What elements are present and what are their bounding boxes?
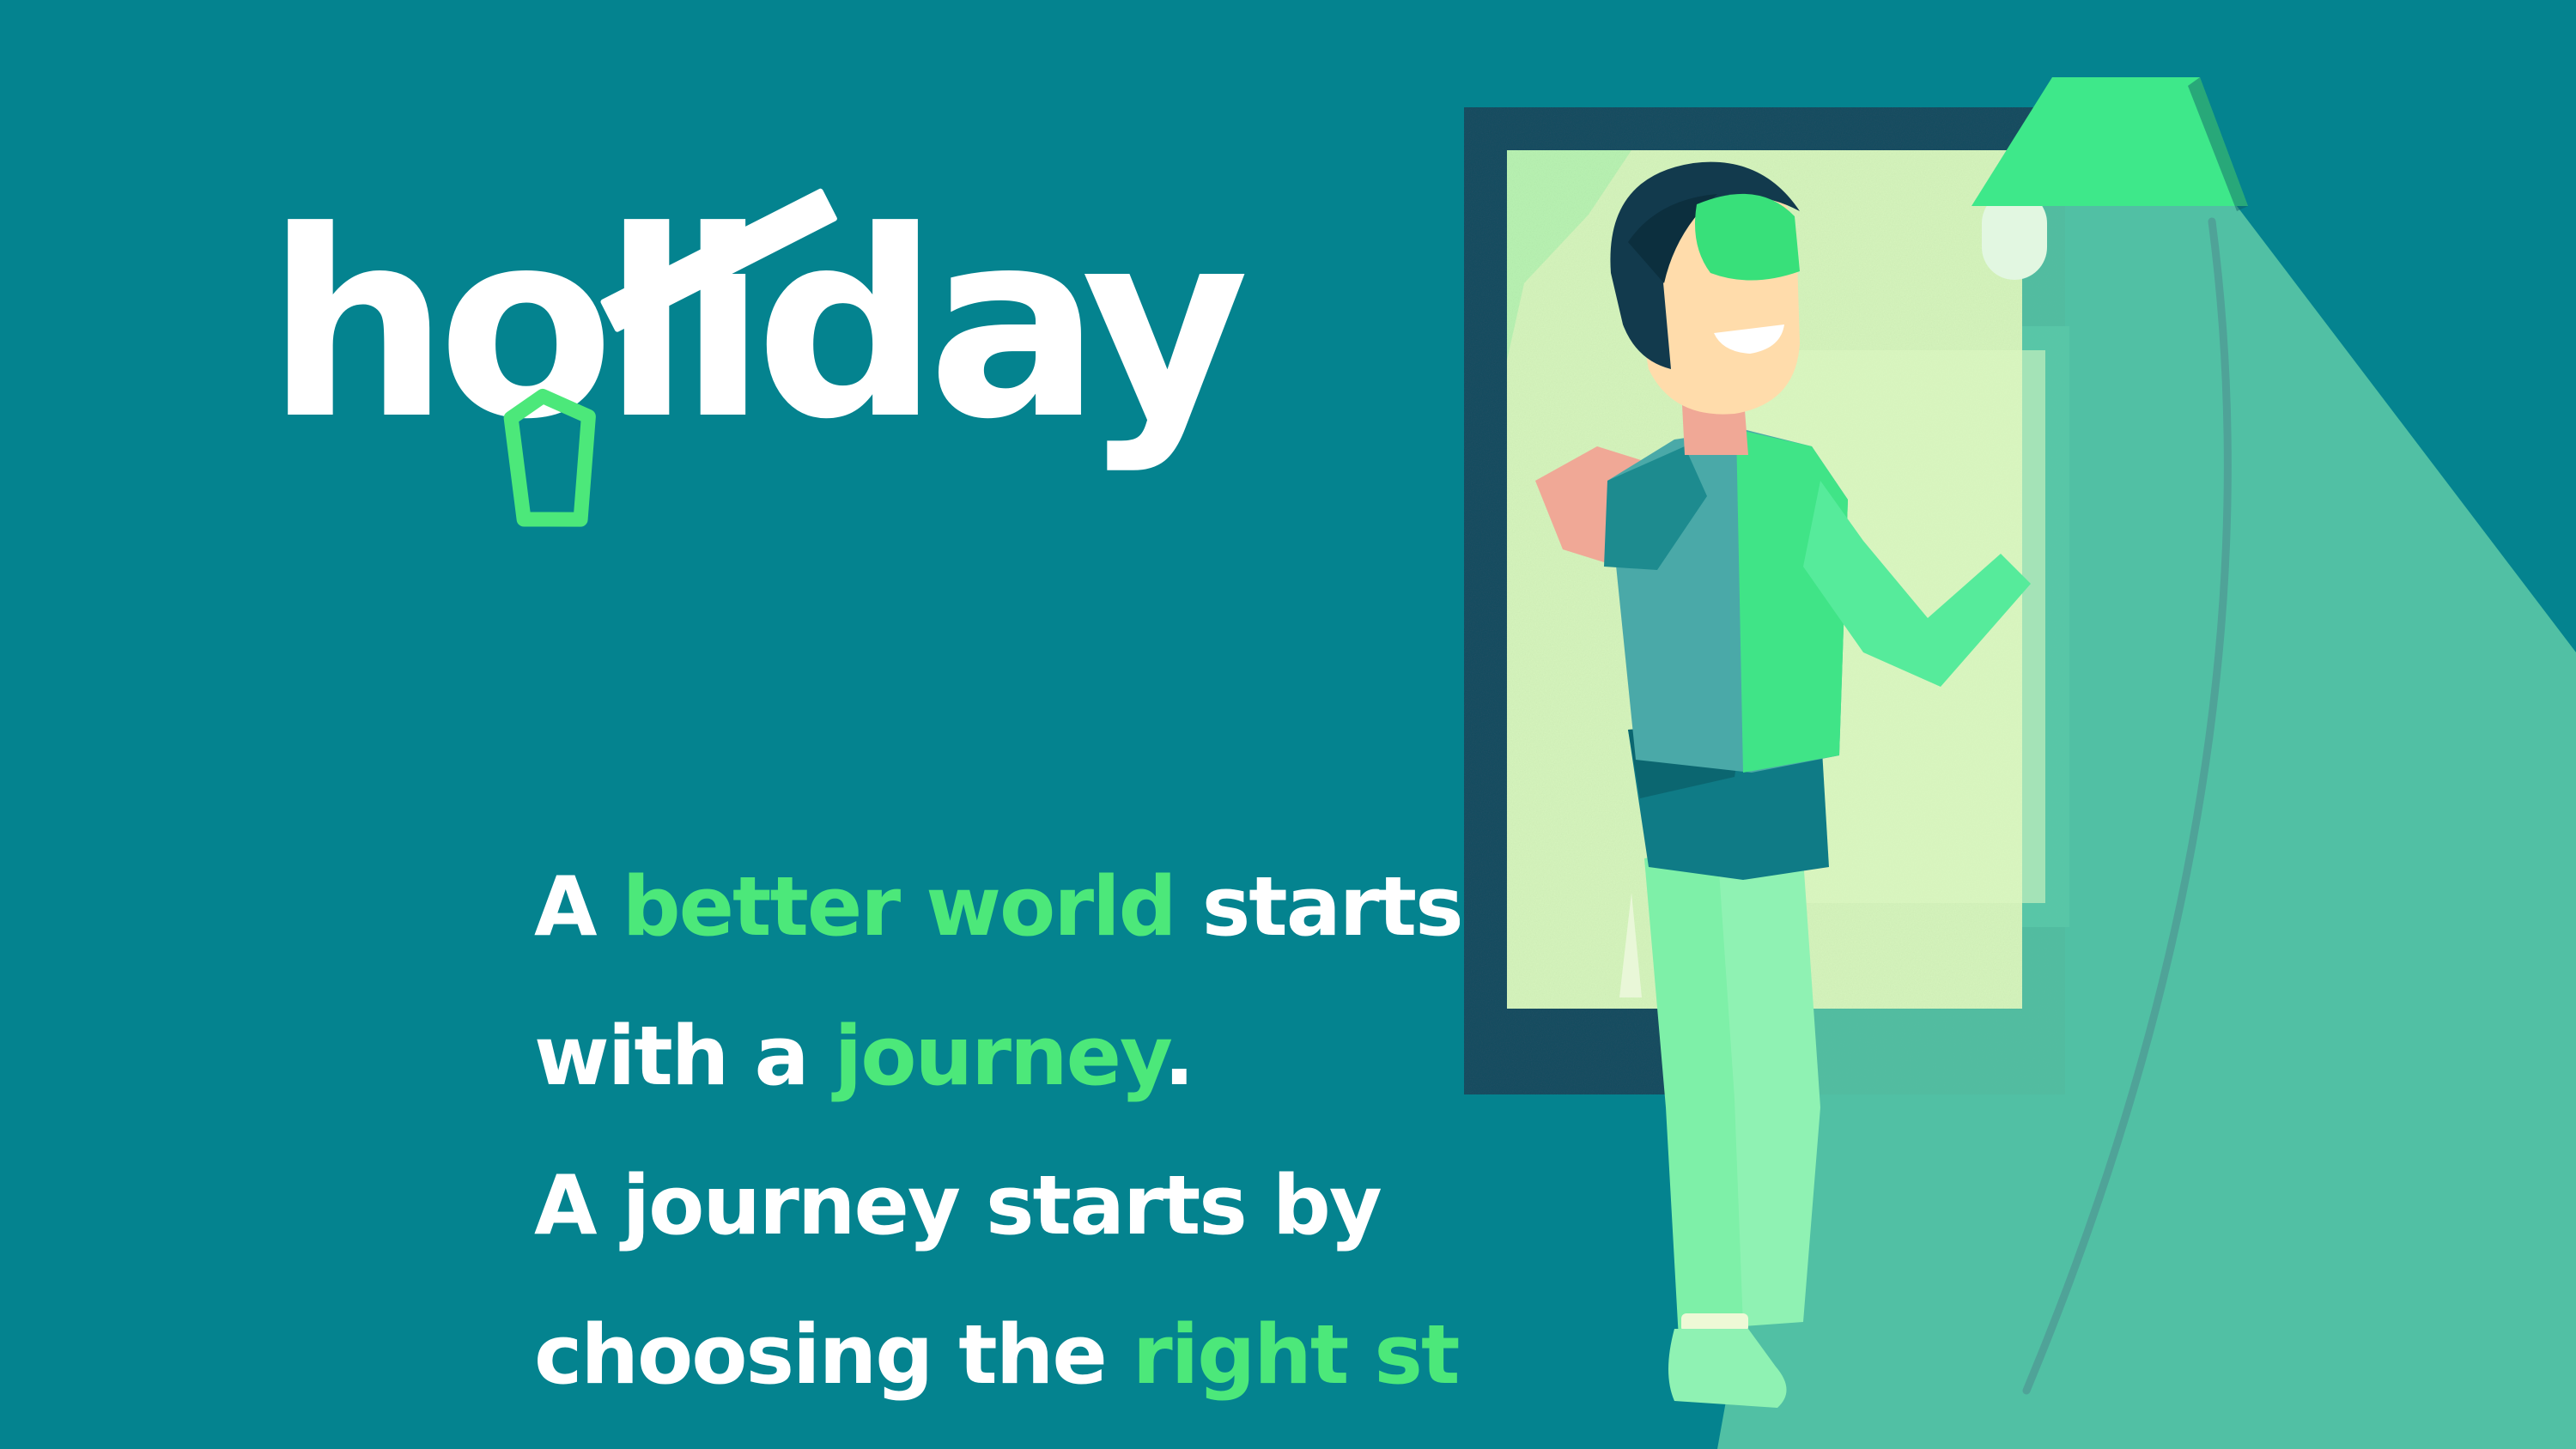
tagline-seg: A journey starts by [534, 1159, 1381, 1253]
price-tag-outline-icon [471, 379, 642, 551]
tagline-line-2: with a journey. [534, 982, 1583, 1131]
tagline-seg: A [534, 860, 623, 955]
tagline-seg: choosing the [534, 1308, 1133, 1403]
poster-canvas: holiday A better world starts with a jou… [0, 0, 2576, 1449]
tagline-seg: starts [1176, 860, 1462, 955]
tagline-line-4: choosing the right stay. [534, 1281, 1583, 1430]
tagline-line-1: A better world starts [534, 833, 1583, 982]
brand-block: holiday A better world starts with a jou… [266, 197, 1468, 489]
tagline-seg: with a [534, 1009, 835, 1104]
tagline: A better world starts with a journey. A … [534, 833, 1583, 1430]
tagline-seg: . [1163, 1009, 1193, 1104]
tagline-seg-accent: journey [835, 1009, 1164, 1104]
tagline-line-3: A journey starts by [534, 1131, 1583, 1281]
illustration-man-stretching [1460, 0, 2576, 1449]
tagline-seg-accent: better world [623, 860, 1176, 955]
logo: holiday [266, 197, 1228, 489]
